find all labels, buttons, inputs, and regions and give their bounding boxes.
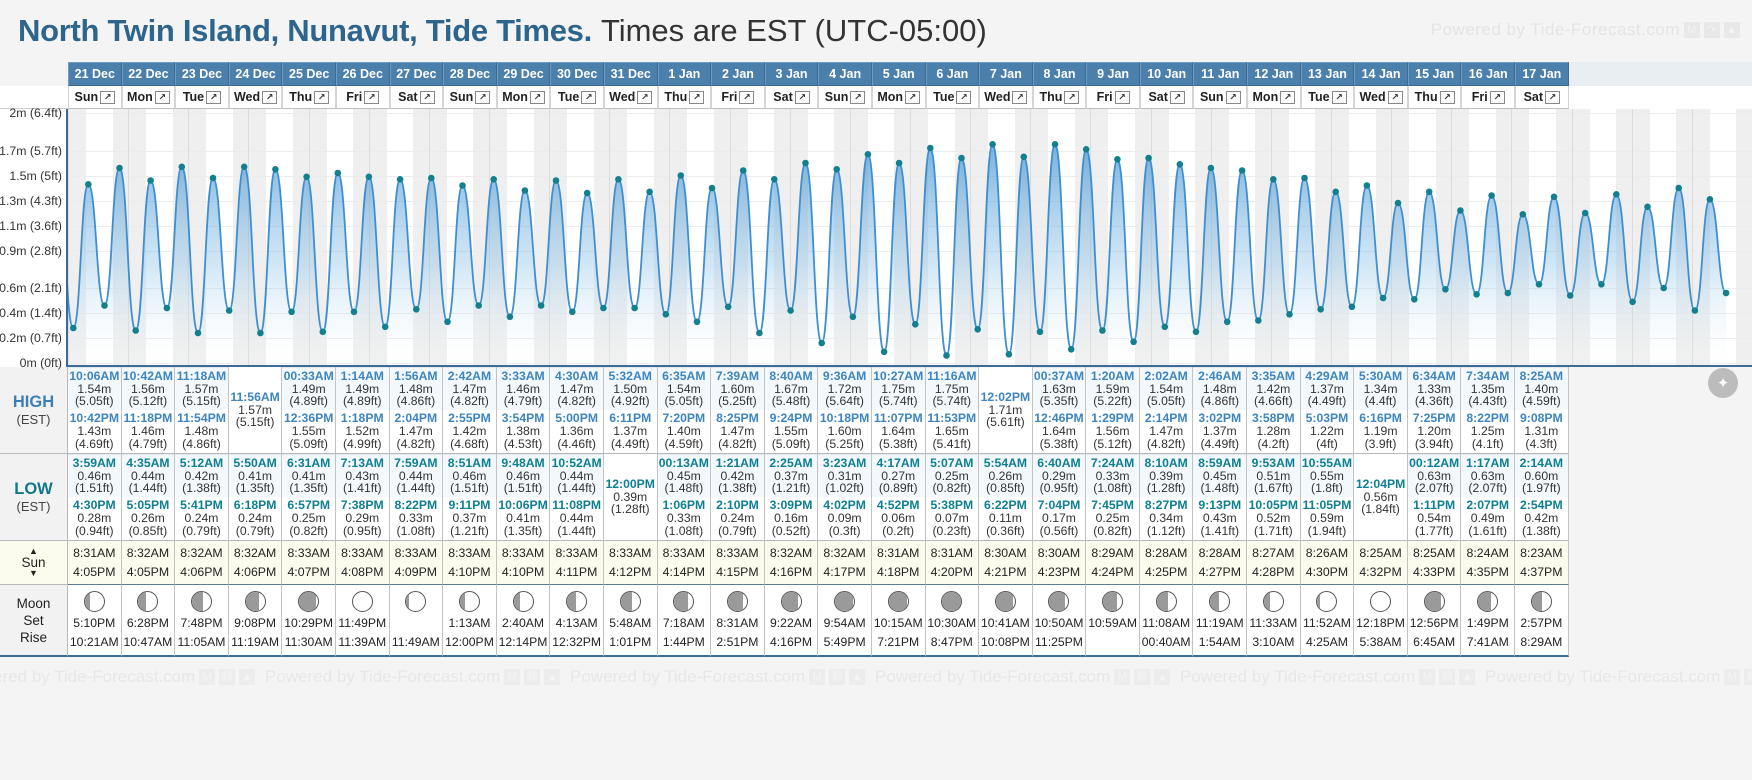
moon-phase-icon [727,591,748,612]
expand-day-icon[interactable]: ↗ [1332,91,1347,104]
high-tide-feet: (5.12ft) [1093,438,1132,451]
high-tide-cell: 4:29AM1.37m(4.49ft) [1301,367,1354,410]
low-tide-point-101 [1629,299,1636,306]
moonset-time: 11:49PM [338,614,386,632]
high-tide-feet: (4.79ft) [504,395,543,408]
expand-day-icon[interactable]: ↗ [262,91,277,104]
weekday-header-26: Fri↗ [1461,86,1515,109]
moon-column-20: 11:08AM00:40AM [1140,585,1194,657]
low-tide-cell: 4:02PM0.09m(0.3ft) [818,497,871,540]
moonset-time: 10:50AM [1035,614,1084,632]
expand-day-icon[interactable]: ↗ [637,91,652,104]
date-header-15[interactable]: 5 Jan [872,62,926,86]
y-tick-0: 2m (6.4ft) [9,106,62,120]
moonset-time: 2:40AM [502,614,544,632]
moonrise-time: 7:21PM [877,633,919,651]
sunrise-time: 8:28AM [1199,544,1241,562]
watermark-top-text: Powered by Tide-Forecast.com [1431,20,1680,40]
high-tide-cell: 4:30AM1.47m(4.82ft) [550,367,603,410]
high-tide-cell: 7:25PM1.20m(3.94ft) [1408,410,1461,453]
moon-column-3: 9:08PM11:19AM [229,585,283,657]
moon-phase-icon [298,591,319,612]
date-header-24[interactable]: 14 Jan [1354,62,1408,86]
weekday-label: Sat [1148,90,1167,104]
low-tide-meters: 0.17m [1042,512,1076,525]
high-tide-feet: (4.82ft) [450,395,489,408]
date-header-0[interactable]: 21 Dec [68,62,122,86]
high-tide-point-36 [615,176,622,183]
moon-column-22: 11:33AM3:10AM [1247,585,1301,657]
moon-column-21: 11:19AM1:54AM [1193,585,1247,657]
high-tide-cell: 11:54PM1.48m(4.86ft) [175,410,228,453]
low-tide-meters: 0.52m [1256,512,1290,525]
date-header-9[interactable]: 30 Dec [550,62,604,86]
moonrise-time: 4:16PM [770,633,812,651]
date-header-23[interactable]: 13 Jan [1301,62,1355,86]
date-header-16[interactable]: 6 Jan [926,62,980,86]
moon-phase-icon [673,591,694,612]
date-header-10[interactable]: 31 Dec [604,62,658,86]
moon-shadow [1103,592,1117,611]
sunrise-time: 8:33AM [502,544,544,562]
low-tide-cell: 2:10PM0.24m(0.79ft) [711,497,764,540]
tide-curve-svg [68,109,1752,367]
sunrise-time: 8:25AM [1359,544,1401,562]
high-tide-column-23: 4:29AM1.37m(4.49ft)5:03PM1.22m(4ft) [1301,367,1355,454]
high-tide-meters: 1.64m [1042,425,1076,438]
page-header: North Twin Island, Nunavut, Tide Times. … [0,0,1752,62]
high-tide-point-48 [802,160,809,167]
high-tide-point-30 [522,187,529,194]
low-tide-meters: 0.24m [720,512,754,525]
low-tide-feet: (0.82ft) [932,482,971,495]
low-tide-cell: 5:05PM0.26m(0.85ft) [122,497,175,540]
low-tide-cell: 5:41PM0.24m(0.79ft) [175,497,228,540]
moon-shadow [1157,592,1169,611]
high-tide-column-19: 1:20AM1.59m(5.22ft)1:29PM1.56m(5.12ft) [1086,367,1140,454]
high-tide-cell: 2:46AM1.48m(4.86ft) [1193,367,1246,410]
date-header-17[interactable]: 7 Jan [979,62,1033,86]
low-tide-feet: (1.44ft) [557,525,596,538]
low-tide-point-37 [631,305,638,312]
low-tide-time: 00:13AM [659,457,709,470]
low-tide-feet: (1.08ft) [397,525,436,538]
moon-shadow [460,592,465,611]
weekday-label: Wed [609,90,635,104]
low-tide-time: 00:12AM [1409,457,1459,470]
low-tide-column-26: 1:17AM0.63m(2.07ft)2:07PM0.49m(1.61ft) [1461,454,1515,541]
weekday-header-5: Fri↗ [336,86,390,109]
date-header-5[interactable]: 26 Dec [336,62,390,86]
expand-day-icon[interactable]: ↗ [739,91,754,104]
low-tide-feet: (1.61ft) [1468,525,1507,538]
expand-day-icon[interactable]: ↗ [1440,91,1455,104]
weekday-header-18: Thu↗ [1033,86,1087,109]
low-tide-feet: (0.85ft) [129,525,168,538]
low-tide-time: 12:00PM [606,478,655,491]
y-tick-8: 0.2m (0.7ft) [0,331,62,345]
high-tide-feet: (3.94ft) [1415,438,1454,451]
low-tide-cell: 5:54AM0.26m(0.85ft) [979,454,1032,497]
date-header-26[interactable]: 16 Jan [1461,62,1515,86]
weekday-header-21: Sun↗ [1193,86,1247,109]
low-tide-cell: 10:06PM0.41m(1.35ft) [497,497,550,540]
low-tide-time: 10:55AM [1302,457,1352,470]
low-tide-meters: 0.16m [774,512,808,525]
low-tide-feet: (1.84ft) [1361,503,1400,516]
sunrise-time: 8:33AM [716,544,758,562]
low-tide-time: 5:50AM [233,457,276,470]
expand-day-icon[interactable]: ↗ [850,91,865,104]
sunset-time: 4:05PM [73,563,115,581]
moonset-time: 7:18AM [663,614,705,632]
expand-day-icon[interactable]: ↗ [1012,91,1027,104]
moonrise-time: 1:01PM [609,633,651,651]
sun-column-21: 8:28AM4:27PM [1193,541,1247,585]
high-tide-column-3: 11:56AM1.57m(5.15ft) [229,367,283,454]
low-tide-cell: 2:54PM0.42m(1.38ft) [1515,497,1568,540]
low-tide-feet: (1.48ft) [1200,482,1239,495]
sun-column-22: 8:27AM4:28PM [1247,541,1301,585]
expand-day-icon[interactable]: ↗ [420,91,435,104]
low-tide-feet: (0.36ft) [986,525,1025,538]
high-tide-feet: (5.05ft) [1147,395,1186,408]
low-tide-feet: (0.3ft) [829,525,861,538]
high-tide-cell: 12:46PM1.64m(5.38ft) [1033,410,1086,453]
high-tide-point-92 [1488,192,1495,199]
refresh-icon: 蘱 [1134,669,1150,685]
low-tide-meters: 0.54m [1417,512,1451,525]
high-tide-point-42 [709,185,716,192]
high-tide-point-88 [1426,189,1433,196]
sunset-time: 4:07PM [287,563,329,581]
moon-phase-icon [1477,591,1498,612]
weekday-header-25: Thu↗ [1408,86,1462,109]
low-tide-column-22: 9:53AM0.51m(1.67ft)10:05PM0.52m(1.71ft) [1247,454,1301,541]
low-tide-cell: 00:13AM0.45m(1.48ft) [658,454,711,497]
y-tick-4: 1.1m (3.6ft) [0,219,62,233]
moon-column-24: 12:18PM5:38AM [1354,585,1408,657]
high-tide-feet: (5.25ft) [825,438,864,451]
sun-column-23: 8:26AM4:30PM [1301,541,1355,585]
low-tide-point-53 [881,349,888,356]
high-tide-point-84 [1364,182,1371,189]
low-tide-point-91 [1473,291,1480,298]
high-tide-point-76 [1239,167,1246,174]
sunset-time: 4:20PM [931,563,973,581]
expand-day-icon[interactable]: ↗ [206,91,221,104]
low-tide-point-47 [787,307,794,314]
sun-column-20: 8:28AM4:25PM [1140,541,1194,585]
moonrise-time: 11:39AM [338,633,386,651]
moon-phase-icon [1209,591,1230,612]
low-tide-cell: 3:59AM0.46m(1.51ft) [68,454,121,497]
sunset-time: 4:33PM [1413,563,1455,581]
low-tide-columns: 3:59AM0.46m(1.51ft)4:30PM0.28m(0.94ft)4:… [68,454,1752,541]
moonrise-time: 8:47PM [931,633,973,651]
high-tide-time: 8:40AM [769,370,812,383]
moonset-time: 1:49PM [1467,614,1509,632]
high-tide-time: 5:32AM [609,370,652,383]
low-tide-feet: (0.95ft) [1040,482,1079,495]
low-tide-time: 7:13AM [341,457,384,470]
high-tide-feet: (5.15ft) [236,416,275,429]
expand-day-icon[interactable]: ↗ [905,91,920,104]
date-header-1[interactable]: 22 Dec [122,62,176,86]
low-tide-feet: (1.08ft) [665,525,704,538]
weekday-label: Wed [234,90,260,104]
high-tide-feet: (4.59ft) [665,438,704,451]
high-tide-point-60 [989,141,996,148]
low-tide-point-61 [1006,351,1013,358]
low-tide-label: LOW (EST) [0,454,68,541]
high-tide-time: 10:42AM [123,370,173,383]
moonrise-time: 1:44PM [663,633,705,651]
date-header-22[interactable]: 12 Jan [1247,62,1301,86]
logo-icon-2: ▲ [1459,669,1475,685]
sunset-time: 4:05PM [127,563,169,581]
high-tide-point-12 [241,164,248,171]
high-tide-meters: 1.64m [881,425,915,438]
expand-day-icon[interactable]: ↗ [364,91,379,104]
high-tide-feet: (3.9ft) [1365,438,1397,451]
weekday-header-8: Mon↗ [497,86,551,109]
expand-day-icon[interactable]: ↗ [1115,91,1130,104]
moon-shadow [996,592,1013,611]
sunrise-time: 8:33AM [287,544,329,562]
low-tide-point-23 [413,306,420,313]
moonset-time: 11:19AM [1196,614,1244,632]
low-tide-meters: 0.33m [667,512,701,525]
date-header-12[interactable]: 2 Jan [711,62,765,86]
low-tide-cell: 2:14AM0.60m(1.97ft) [1515,454,1568,497]
low-tide-cell: 1:17AM0.63m(2.07ft) [1461,454,1514,497]
expand-day-icon[interactable]: ↗ [1388,91,1403,104]
low-tide-label-sub: (EST) [17,499,51,514]
date-header-4[interactable]: 25 Dec [282,62,336,86]
high-tide-time: 3:33AM [501,370,544,383]
high-tide-feet: (4.46ft) [557,438,596,451]
weekday-header-27: Sat↗ [1515,86,1569,109]
low-tide-meters: 0.24m [185,512,219,525]
y-tick-6: 0.6m (2.1ft) [0,281,62,295]
low-tide-point-39 [663,311,670,318]
high-tide-feet: (5.09ft) [772,438,811,451]
moon-phase-icon [941,591,962,612]
high-tide-feet: (4.2ft) [1257,438,1289,451]
high-tide-point-2 [85,181,92,188]
low-tide-time: 9:53AM [1252,457,1295,470]
high-tide-time: 7:34AM [1466,370,1509,383]
high-tide-point-80 [1301,175,1308,182]
date-header-20[interactable]: 10 Jan [1140,62,1194,86]
sunrise-time: 8:31AM [931,544,973,562]
expand-day-icon[interactable]: ↗ [689,91,704,104]
low-tide-point-79 [1286,311,1293,318]
low-tide-feet: (2.07ft) [1468,482,1507,495]
expand-day-icon[interactable]: ↗ [795,91,810,104]
low-tide-feet: (1.28ft) [1147,482,1186,495]
high-tide-column-12: 7:39AM1.60m(5.25ft)8:25PM1.47m(4.82ft) [711,367,765,454]
expand-day-icon[interactable]: ↗ [1064,91,1079,104]
high-tide-feet: (4.82ft) [557,395,596,408]
date-header-25[interactable]: 15 Jan [1408,62,1462,86]
watermark-footer-2: Powered by Tide-Forecast.comM蘱▲ [570,667,865,687]
sunset-time: 4:23PM [1038,563,1080,581]
high-tide-feet: (5.09ft) [289,438,328,451]
high-tide-point-22 [397,176,404,183]
y-tick-2: 1.5m (5ft) [9,169,62,183]
overlay-badge-icon[interactable]: ✦ [1708,368,1738,398]
low-tide-cell: 2:07PM0.49m(1.61ft) [1461,497,1514,540]
high-tide-feet: (4.49ft) [1200,438,1239,451]
low-tide-meters: 0.41m [506,512,540,525]
low-tide-feet: (0.82ft) [1093,525,1132,538]
low-tide-time: 8:59AM [1198,457,1241,470]
date-header-14[interactable]: 4 Jan [818,62,872,86]
sunrise-time: 8:33AM [448,544,490,562]
high-tide-time: 00:33AM [284,370,334,383]
low-tide-cell: 7:59AM0.44m(1.44ft) [390,454,443,497]
moon-shadow [85,592,90,611]
low-tide-cell: 4:52PM0.06m(0.2ft) [872,497,925,540]
sunrise-arrow-icon: ▲ [29,548,38,555]
high-tide-point-14 [272,166,279,173]
low-tide-feet: (1.35ft) [504,525,543,538]
high-tide-cell-single: 11:56AM1.57m(5.15ft) [229,367,282,453]
low-tide-point-17 [320,329,327,336]
sunset-time: 4:06PM [180,563,222,581]
weekday-header-0: Sun↗ [68,86,122,109]
low-tide-feet: (1.12ft) [1147,525,1186,538]
low-tide-feet: (1.28ft) [611,503,650,516]
low-tide-meters: 0.49m [1471,512,1505,525]
expand-day-icon[interactable]: ↗ [1226,91,1241,104]
low-tide-point-51 [850,314,857,321]
date-header-18[interactable]: 8 Jan [1033,62,1087,86]
high-tide-point-54 [896,160,903,167]
moonrise-time: 10:08PM [981,633,1030,651]
expand-day-icon[interactable]: ↗ [581,91,596,104]
weekday-label: Tue [558,90,579,104]
watermark-footer-1: Powered by Tide-Forecast.comM蘱▲ [265,667,560,687]
high-tide-time: 1:56AM [394,370,437,383]
high-tide-point-32 [553,177,560,184]
moon-shadow [406,592,408,611]
sunrise-time: 8:32AM [823,544,865,562]
moonrise-time: 12:14PM [499,633,548,651]
moon-shadow [1532,592,1542,611]
high-tide-cell: 1:29PM1.56m(5.12ft) [1086,410,1139,453]
moonset-time: 11:08AM [1142,614,1190,632]
sun-columns: 8:31AM4:05PM8:32AM4:05PM8:32AM4:06PM8:32… [68,541,1752,585]
high-tide-point-68 [1114,156,1121,163]
high-tide-column-18: 00:37AM1.63m(5.35ft)12:46PM1.64m(5.38ft) [1033,367,1087,454]
watermark-footer-text: Powered by Tide-Forecast.com [0,667,195,687]
expand-day-icon[interactable]: ↗ [100,91,115,104]
moonrise-time: 12:32PM [552,633,601,651]
sun-column-2: 8:32AM4:06PM [175,541,229,585]
low-tide-time: 3:23AM [823,457,866,470]
low-tide-point-77 [1255,317,1262,324]
date-header-27[interactable]: 17 Jan [1515,62,1569,86]
low-tide-point-89 [1442,286,1449,293]
moon-shadow [1049,592,1065,611]
low-tide-meters: 0.34m [1149,512,1183,525]
low-tide-feet: (1.67ft) [1254,482,1293,495]
expand-day-icon[interactable]: ↗ [155,91,170,104]
date-header-8[interactable]: 29 Dec [497,62,551,86]
low-tide-meters: 0.44m [560,512,594,525]
expand-day-icon[interactable]: ↗ [1545,91,1560,104]
moon-column-12: 8:31AM2:51PM [711,585,765,657]
sunset-time: 4:21PM [984,563,1026,581]
low-tide-feet: (1.51ft) [75,482,114,495]
date-header-13[interactable]: 3 Jan [765,62,819,86]
sun-column-7: 8:33AM4:10PM [443,541,497,585]
sunrise-time: 8:32AM [180,544,222,562]
high-tide-feet: (4.1ft) [1472,438,1504,451]
expand-day-icon[interactable]: ↗ [956,91,971,104]
sunrise-time: 8:32AM [127,544,169,562]
moonset-time: 5:48AM [609,614,651,632]
sunset-time: 4:27PM [1199,563,1241,581]
moon-shadow [782,592,799,611]
moonset-time: 6:28PM [127,614,169,632]
low-tide-feet: (1.51ft) [504,482,543,495]
high-tide-meters: 1.56m [1096,425,1130,438]
date-header-2[interactable]: 23 Dec [175,62,229,86]
low-tide-cell: 6:40AM0.29m(0.95ft) [1033,454,1086,497]
high-tide-feet: (5.38ft) [879,438,918,451]
high-tide-cell: 8:22PM1.25m(4.1ft) [1461,410,1514,453]
low-tide-column-1: 4:35AM0.44m(1.44ft)5:05PM0.26m(0.85ft) [122,454,176,541]
low-tide-point-59 [974,326,981,333]
moon-shadow [138,592,146,611]
date-header-6[interactable]: 27 Dec [390,62,444,86]
high-tide-column-22: 3:35AM1.42m(4.66ft)3:58PM1.28m(4.2ft) [1247,367,1301,454]
high-tide-column-24: 5:30AM1.34m(4.4ft)6:16PM1.19m(3.9ft) [1354,367,1408,454]
low-tide-time: 4:17AM [877,457,920,470]
date-header-21[interactable]: 11 Jan [1193,62,1247,86]
expand-day-icon[interactable]: ↗ [1170,91,1185,104]
date-header-19[interactable]: 9 Jan [1086,62,1140,86]
date-header-7[interactable]: 28 Dec [443,62,497,86]
weekday-label: Tue [933,90,954,104]
date-header-11[interactable]: 1 Jan [658,62,712,86]
low-tide-point-29 [507,314,514,321]
low-tide-point-49 [818,340,825,347]
expand-day-icon[interactable]: ↗ [530,91,545,104]
high-tide-point-82 [1332,189,1339,196]
expand-day-icon[interactable]: ↗ [1280,91,1295,104]
date-header-row: 21 Dec22 Dec23 Dec24 Dec25 Dec26 Dec27 D… [0,62,1752,86]
expand-day-icon[interactable]: ↗ [314,91,329,104]
date-header-3[interactable]: 24 Dec [229,62,283,86]
low-tide-cell: 6:18PM0.24m(0.79ft) [229,497,282,540]
logo-icon-1: M [1419,669,1435,685]
expand-day-icon[interactable]: ↗ [1490,91,1505,104]
logo-icon-2: ▲ [849,669,865,685]
high-tide-cell: 1:18PM1.52m(4.99ft) [336,410,389,453]
moon-phase-icon [995,591,1016,612]
low-tide-meters: 0.43m [1203,512,1237,525]
high-tide-meters: 1.22m [1310,425,1344,438]
high-tide-feet: (5.15ft) [182,395,221,408]
expand-day-icon[interactable]: ↗ [475,91,490,104]
high-tide-column-14: 9:36AM1.72m(5.64ft)10:18PM1.60m(5.25ft) [818,367,872,454]
low-tide-point-95 [1536,281,1543,288]
